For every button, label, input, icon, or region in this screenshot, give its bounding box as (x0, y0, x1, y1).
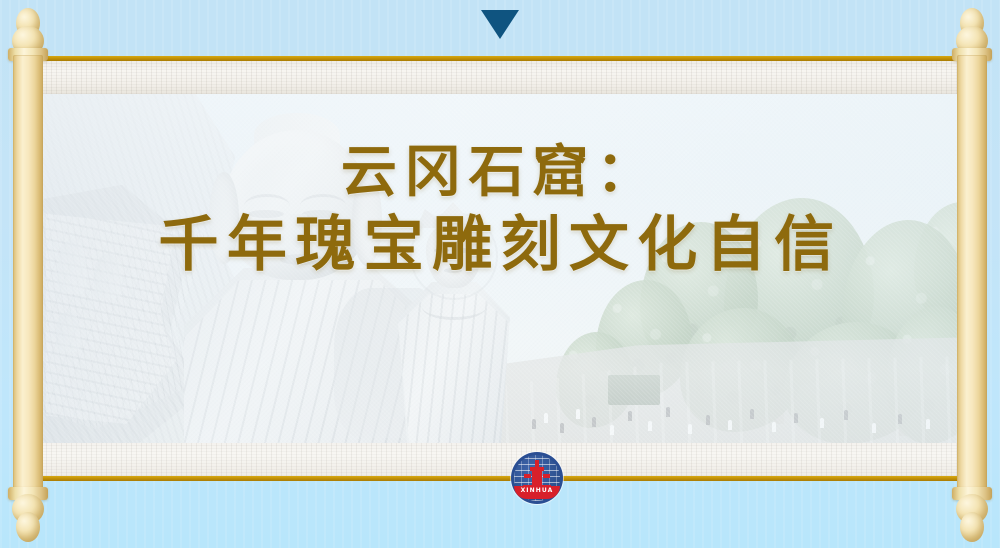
background-photo (36, 94, 965, 443)
down-triangle-icon (481, 10, 519, 39)
xinhua-logo: XINHUA (511, 452, 563, 504)
rod-finial-bottom-outer (16, 512, 40, 542)
down-triangle-glyph: ▼ (0, 0, 1, 1)
banner-top-paper-band (36, 61, 965, 94)
scroll-rod-right (948, 0, 996, 548)
banner-bottom-paper-band (36, 443, 965, 476)
banner-bottom-rule (36, 476, 965, 481)
rod-finial-bottom-outer (960, 512, 984, 542)
scroll-rod-left (4, 0, 52, 548)
xinhua-wordmark: XINHUA (514, 487, 560, 494)
banner-top-rule (36, 56, 965, 61)
rod-shaft (13, 55, 43, 493)
scroll-banner: 云冈石窟： 千年瑰宝雕刻文化自信 XINHUA (36, 56, 965, 481)
slide-canvas: ▼ (0, 0, 1000, 548)
photo-tint-overlay (36, 94, 965, 443)
rod-shaft (957, 55, 987, 493)
